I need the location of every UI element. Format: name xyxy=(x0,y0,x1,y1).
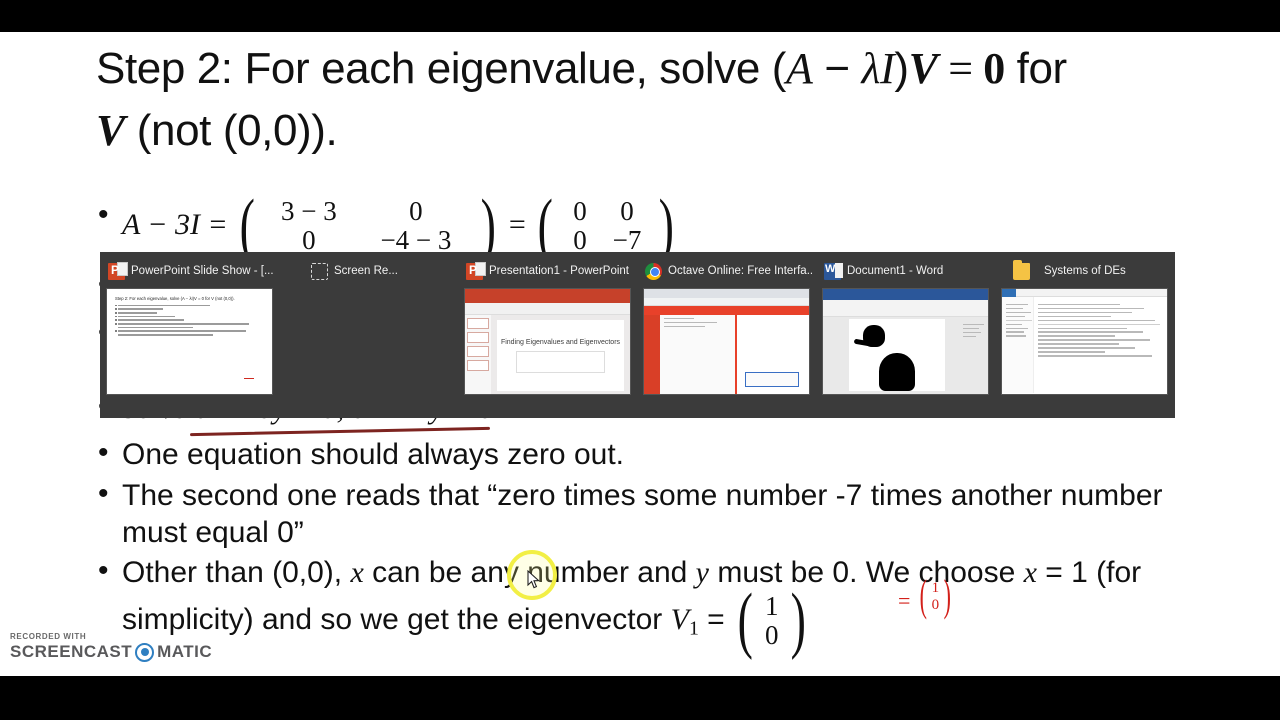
matrix-cell: 0 xyxy=(357,197,475,226)
slide-title-equals: = xyxy=(938,44,984,93)
screen-recording-frame: Step 2: For each eigenvalue, solve (A − … xyxy=(0,0,1280,720)
ink-paren-open-icon: ( xyxy=(920,581,927,612)
paren-close-icon: ) xyxy=(790,594,805,647)
ink-paren-close-icon: ) xyxy=(944,581,951,612)
paren-open-icon: ( xyxy=(240,200,255,253)
matrix-cell: 0 xyxy=(601,197,653,226)
task-switcher-thumbnail[interactable] xyxy=(643,288,810,395)
powerpoint-icon xyxy=(108,263,125,280)
bullet-var-x2: x xyxy=(1024,556,1037,589)
slide-title-lambda-i: λI xyxy=(861,44,894,93)
matrix-cell: 0 xyxy=(559,226,601,255)
task-switcher-item-label: Document1 - Word xyxy=(847,265,943,277)
bullet-other-than-part-3: must be 0. We choose xyxy=(709,556,1024,589)
mini-chrome-note xyxy=(745,372,799,387)
letterbox-top xyxy=(0,0,1280,32)
powerpoint-slide: Step 2: For each eigenvalue, solve (A − … xyxy=(0,32,1280,676)
task-switcher-thumbnail[interactable] xyxy=(822,288,989,395)
bullet-other-than-part-5: = xyxy=(699,603,733,636)
task-switcher-item-octave-online[interactable]: Octave Online: Free Interfa... xyxy=(637,258,816,418)
slide-title-for: for xyxy=(1005,44,1067,93)
watermark-screencast: SCREENCAST xyxy=(10,642,132,662)
matrix-cell: −7 xyxy=(601,226,653,255)
bullet-var-V1-subscript: 1 xyxy=(689,617,699,639)
task-switcher-overlay[interactable]: PowerPoint Slide Show - [... Step 2: For… xyxy=(100,252,1175,418)
mini-slide-body xyxy=(115,305,264,336)
mini-word-silhouette xyxy=(879,353,915,391)
eigenvector-v1: (10) xyxy=(733,592,810,650)
slide-title-var-A: A xyxy=(786,44,812,93)
slide-title-tail: (not (0,0)). xyxy=(125,106,337,155)
screencast-o-matic-watermark: RECORDED WITH SCREENCAST MATIC xyxy=(10,632,212,662)
mouse-pointer-icon xyxy=(527,570,541,590)
bullet-var-y: y xyxy=(696,556,709,589)
slide-title-var-V2: V xyxy=(96,106,125,155)
watermark-record-icon xyxy=(135,643,154,662)
task-switcher-item-screen-recorder[interactable]: Screen Re... xyxy=(279,258,458,418)
slide-title-zero: 0 xyxy=(983,44,1005,93)
mini-slide-ink-mark xyxy=(244,378,254,380)
matrix-cell: 0 xyxy=(261,226,357,255)
eigenvector-cell: 0 xyxy=(759,621,785,650)
word-icon xyxy=(824,263,841,280)
slide-title-minus: − xyxy=(813,44,862,93)
ink-vector-annotation: ( 1 0 ) xyxy=(916,580,955,613)
mini-powerpoint-app: Finding Eigenvalues and Eigenvectors xyxy=(465,289,630,394)
chrome-icon xyxy=(645,263,662,280)
task-switcher-item-powerpoint-slide-show[interactable]: PowerPoint Slide Show - [... Step 2: For… xyxy=(100,258,279,418)
bullet-second-reads-text: The second one reads that “zero times so… xyxy=(122,479,1163,549)
watermark-matic: MATIC xyxy=(157,642,212,662)
folder-icon xyxy=(1013,263,1030,280)
eigenvector-cell: 1 xyxy=(759,592,785,621)
task-switcher-item-document1-word[interactable]: Document1 - Word xyxy=(816,258,995,418)
bullet-other-than-part-1: Other than (0,0), xyxy=(122,556,350,589)
mini-explorer-app xyxy=(1002,289,1167,394)
bullet-zero-out-text: One equation should always zero out. xyxy=(122,438,624,471)
task-switcher-item-label: Octave Online: Free Interfa... xyxy=(668,265,812,277)
paren-open-icon: ( xyxy=(738,594,753,647)
matrix-cell: −4 − 3 xyxy=(357,226,475,255)
watermark-recorded-with: RECORDED WITH xyxy=(10,632,212,641)
paren-close-icon: ) xyxy=(659,200,674,253)
screen-recorder-icon xyxy=(311,263,328,280)
bullet-second-reads: The second one reads that “zero times so… xyxy=(96,478,1206,551)
slide-title-close-paren: ) xyxy=(894,44,908,93)
matrix-a-minus-3i: ( 3 − 3 0 0 −4 − 3 ) xyxy=(235,197,500,255)
letterbox-bottom xyxy=(0,676,1280,720)
paren-open-icon: ( xyxy=(538,200,553,253)
mini-slide-preview: Step 2: For each eigenvalue, solve (A − … xyxy=(107,289,272,394)
bullet-a-minus-3i-equals: = xyxy=(509,208,533,241)
ink-equals-annotation: = xyxy=(898,588,910,614)
powerpoint-icon xyxy=(466,263,483,280)
bullet-other-than: Other than (0,0), x can be any number an… xyxy=(96,555,1206,650)
matrix-cell: 3 − 3 xyxy=(261,197,357,226)
bullet-var-x1: x xyxy=(350,556,363,589)
mini-slide-title: Step 2: For each eigenvalue, solve (A − … xyxy=(115,296,264,302)
bullet-a-minus-3i-prefix: A − 3I = xyxy=(122,208,235,241)
task-switcher-thumbnail[interactable] xyxy=(1001,288,1168,395)
matrix-cell: 0 xyxy=(559,197,601,226)
paren-close-icon: ) xyxy=(481,200,496,253)
mini-word-silhouette xyxy=(863,325,885,347)
task-switcher-item-label: Presentation1 - PowerPoint xyxy=(489,265,629,277)
slide-title: Step 2: For each eigenvalue, solve (A − … xyxy=(96,38,1096,163)
slide-title-var-V: V xyxy=(909,44,938,93)
ink-vector-cell: 1 xyxy=(932,580,940,597)
mini-slide-stage-title: Finding Eigenvalues and Eigenvectors xyxy=(501,338,620,347)
task-switcher-thumbnail[interactable]: Finding Eigenvalues and Eigenvectors xyxy=(464,288,631,395)
bullet-zero-out: One equation should always zero out. xyxy=(96,435,1206,474)
matrix-result: ( 0 0 0 −7 ) xyxy=(533,197,678,255)
task-switcher-item-presentation1-powerpoint[interactable]: Presentation1 - PowerPoint Finding Eigen… xyxy=(458,258,637,418)
slide-title-part-1: Step 2: For each eigenvalue, solve ( xyxy=(96,44,786,93)
ink-vector-cell: 0 xyxy=(932,597,940,614)
bullet-var-V1: V xyxy=(671,603,689,636)
task-switcher-item-label: PowerPoint Slide Show - [... xyxy=(131,265,274,277)
task-switcher-item-systems-of-des[interactable]: Systems of DEs xyxy=(995,258,1174,418)
task-switcher-item-label: Systems of DEs xyxy=(1036,265,1126,277)
task-switcher-thumbnail[interactable]: Step 2: For each eigenvalue, solve (A − … xyxy=(106,288,273,395)
mini-chrome-app xyxy=(644,289,809,394)
task-switcher-item-label: Screen Re... xyxy=(334,265,398,277)
mini-word-app xyxy=(823,289,988,394)
